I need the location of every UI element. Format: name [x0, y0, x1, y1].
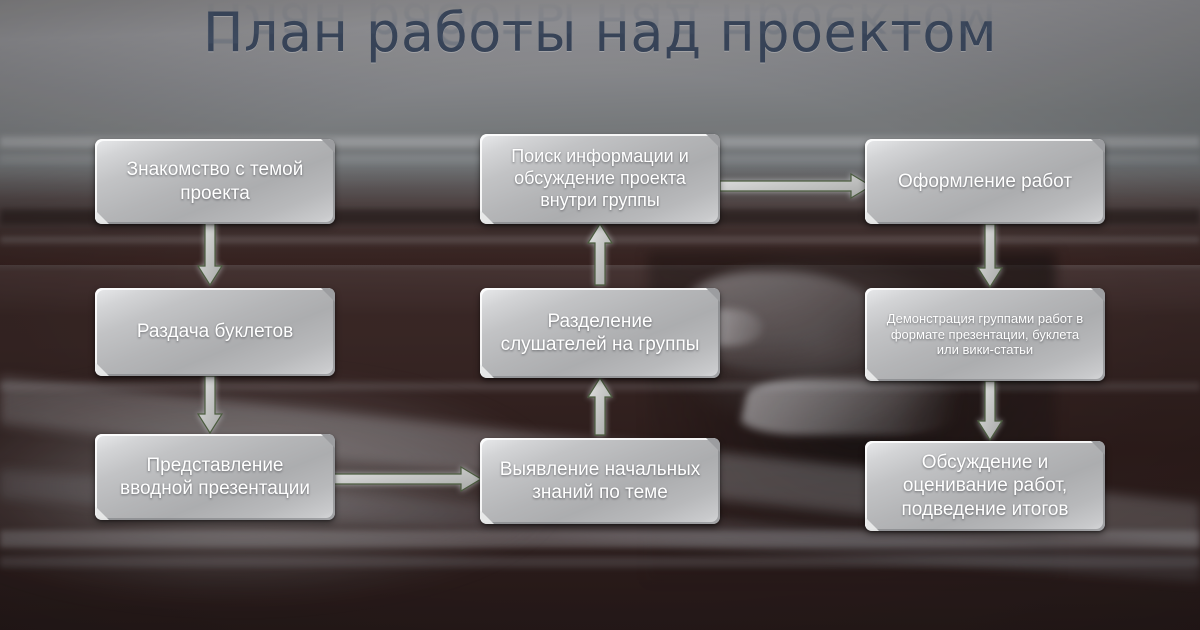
flow-node-label: Раздача буклетов	[137, 320, 293, 343]
arrow-node7-to-node8	[977, 224, 1003, 288]
flow-node-assessment-summary[interactable]: Обсуждение и оценивание работ, подведени…	[865, 441, 1105, 531]
flow-node-formatting-works[interactable]: Оформление работ	[865, 139, 1105, 224]
flow-node-research-discussion[interactable]: Поиск информации и обсуждение проекта вн…	[480, 134, 720, 224]
flow-node-label: Представление вводной презентации	[109, 454, 321, 500]
flow-node-initial-knowledge[interactable]: Выявление начальных знаний по теме	[480, 438, 720, 524]
arrow-node2-to-node3	[197, 376, 223, 434]
flow-node-label: Знакомство с темой проекта	[109, 158, 321, 204]
flow-node-label: Оформление работ	[898, 170, 1072, 193]
flow-node-label: Обсуждение и оценивание работ, подведени…	[879, 451, 1091, 521]
arrow-node5-to-node6	[587, 224, 613, 286]
arrow-node1-to-node2	[197, 222, 223, 286]
flow-node-label: Разделение слушателей на группы	[494, 310, 706, 356]
flow-node-label: Демонстрация группами работ в формате пр…	[879, 311, 1091, 359]
arrow-node3-to-node4	[330, 466, 482, 492]
flow-node-label: Выявление начальных знаний по теме	[494, 458, 706, 504]
flow-node-split-groups[interactable]: Разделение слушателей на группы	[480, 288, 720, 378]
arrow-node8-to-node9	[977, 381, 1003, 441]
arrow-node4-to-node5	[587, 378, 613, 436]
flow-node-label: Поиск информации и обсуждение проекта вн…	[494, 146, 706, 212]
flow-node-familiarization[interactable]: Знакомство с темой проекта	[95, 139, 335, 224]
flow-node-intro-presentation[interactable]: Представление вводной презентации	[95, 434, 335, 520]
slide-canvas: План работы над проектом План работы над…	[0, 0, 1200, 630]
flow-node-booklets[interactable]: Раздача буклетов	[95, 288, 335, 376]
flow-node-group-demonstration[interactable]: Демонстрация группами работ в формате пр…	[865, 288, 1105, 381]
arrow-node6-to-node7	[720, 173, 872, 199]
